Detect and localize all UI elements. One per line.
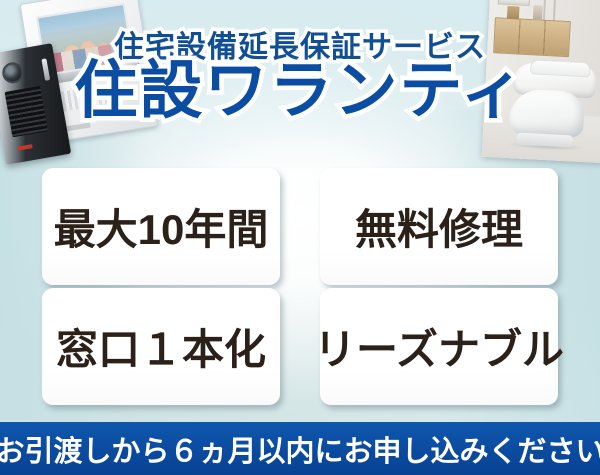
camera-lens-icon: [1, 61, 25, 85]
feature-box-max-years: 最大10年間: [42, 168, 280, 285]
toilet-bathroom-photo: [482, 0, 600, 163]
feature-label-free-repair: 無料修理: [355, 196, 523, 257]
toilet-lid: [530, 59, 591, 77]
toilet-bowl: [509, 88, 585, 138]
door-station-strip: [41, 58, 50, 81]
feature-box-single-contact: 窓口１本化: [42, 288, 280, 405]
service-promo-banner: 住宅設備延長保証サービス 住設ワランティ 最大10年間 無料修理 窓口１本化 リ…: [0, 0, 600, 475]
feature-box-free-repair: 無料修理: [320, 168, 558, 285]
feature-label-reasonable: リーズナブル: [314, 316, 564, 377]
feature-box-grid: 最大10年間 無料修理 窓口１本化 リーズナブル: [42, 168, 558, 405]
feature-label-single-contact: 窓口１本化: [56, 316, 266, 377]
feature-box-reasonable: リーズナブル: [320, 288, 558, 405]
shelf-item-right: [533, 5, 543, 20]
cta-text: お引渡しから６ヵ月以内にお申し込みください: [0, 428, 600, 470]
door-station-speaker: [5, 86, 48, 138]
bathroom-cabinet: [493, 17, 571, 57]
cta-bar: お引渡しから６ヵ月以内にお申し込みください: [0, 422, 600, 475]
feature-label-max-years: 最大10年間: [54, 196, 269, 257]
shelf-item-left: [507, 6, 520, 20]
door-station-led: [17, 144, 32, 151]
